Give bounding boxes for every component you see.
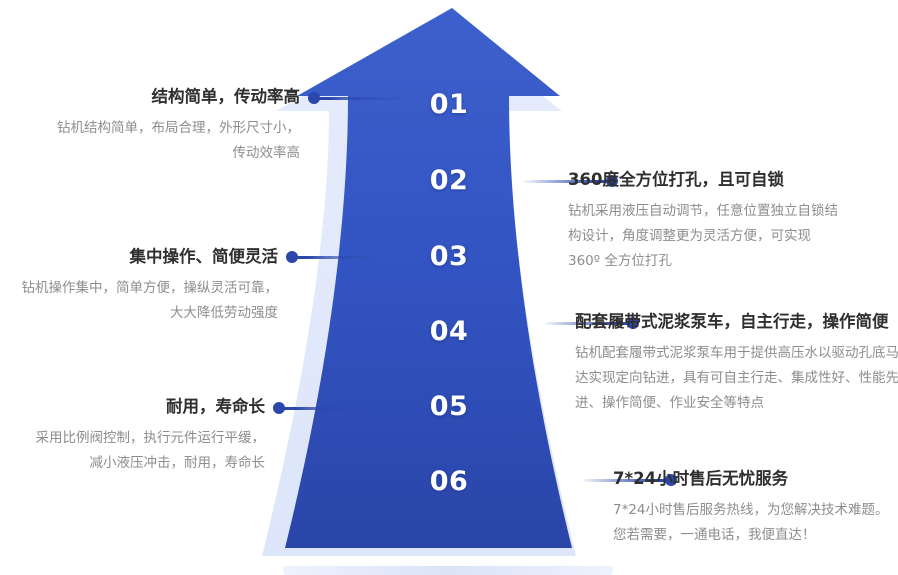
step-desc-05: 采用比例阀控制，执行元件运行平缓， 减小液压冲击，耐用，寿命长 <box>0 426 265 476</box>
step-desc-02-line-1: 钻机采用液压自动调节，任意位置独立自锁结 <box>568 199 898 224</box>
step-item-02: 360度全方位打孔，且可自锁 钻机采用液压自动调节，任意位置独立自锁结 构设计，… <box>568 169 898 274</box>
step-desc-06: 7*24小时售后服务热线，为您解决技术难题。 您若需要，一通电话，我便直达！ <box>613 498 898 548</box>
step-number-06: 06 <box>404 468 494 495</box>
step-desc-03: 钻机操作集中，简单方便，操纵灵活可靠， 大大降低劳动强度 <box>0 276 278 326</box>
step-desc-03-line-2: 大大降低劳动强度 <box>0 301 278 326</box>
infographic-canvas: 01 02 03 04 05 06 结构简单，传动率高 钻机结构简单，布局合理，… <box>0 0 898 575</box>
step-desc-01: 钻机结构简单，布局合理，外形尺寸小， 传动效率高 <box>0 116 300 166</box>
step-desc-01-line-2: 传动效率高 <box>0 141 300 166</box>
step-number-01: 01 <box>404 91 494 118</box>
step-item-03: 集中操作、简便灵活 钻机操作集中，简单方便，操纵灵活可靠， 大大降低劳动强度 <box>0 246 278 326</box>
connector-step-05 <box>275 402 367 414</box>
step-title-04: 配套履带式泥浆泵车，自主行走，操作简便 <box>575 311 898 332</box>
step-item-05: 耐用，寿命长 采用比例阀控制，执行元件运行平缓， 减小液压冲击，耐用，寿命长 <box>0 396 265 476</box>
step-number-03: 03 <box>404 243 494 270</box>
step-item-06: 7*24小时售后无忧服务 7*24小时售后服务热线，为您解决技术难题。 您若需要… <box>613 468 898 548</box>
step-desc-03-line-1: 钻机操作集中，简单方便，操纵灵活可靠， <box>0 276 278 301</box>
step-desc-04: 钻机配套履带式泥浆泵车用于提供高压水以驱动孔底马 达实现定向钻进，具有可自主行走… <box>575 341 898 416</box>
step-title-03: 集中操作、简便灵活 <box>0 246 278 267</box>
connector-line-03 <box>288 256 380 259</box>
arrow-body <box>285 8 572 548</box>
step-desc-06-line-2: 您若需要，一通电话，我便直达！ <box>613 523 898 548</box>
step-number-05: 05 <box>404 393 494 420</box>
step-desc-02-line-3: 360º 全方位打孔 <box>568 249 898 274</box>
step-desc-02-line-2: 构设计，角度调整更为灵活方便，可实现 <box>568 224 898 249</box>
connector-step-03 <box>288 251 380 263</box>
connector-dot-05 <box>273 402 285 414</box>
step-title-02: 360度全方位打孔，且可自锁 <box>568 169 898 190</box>
step-desc-05-line-1: 采用比例阀控制，执行元件运行平缓， <box>0 426 265 451</box>
step-desc-01-line-1: 钻机结构简单，布局合理，外形尺寸小， <box>0 116 300 141</box>
connector-dot-03 <box>286 251 298 263</box>
connector-dot-01 <box>308 92 320 104</box>
step-desc-04-line-2: 达实现定向钻进，具有可自主行走、集成性好、性能先 <box>575 366 898 391</box>
step-desc-06-line-1: 7*24小时售后服务热线，为您解决技术难题。 <box>613 498 898 523</box>
step-number-02: 02 <box>404 167 494 194</box>
step-number-04: 04 <box>404 318 494 345</box>
step-desc-05-line-2: 减小液压冲击，耐用，寿命长 <box>0 451 265 476</box>
step-desc-04-line-1: 钻机配套履带式泥浆泵车用于提供高压水以驱动孔底马 <box>575 341 898 366</box>
step-title-01: 结构简单，传动率高 <box>0 86 300 107</box>
step-item-01: 结构简单，传动率高 钻机结构简单，布局合理，外形尺寸小， 传动效率高 <box>0 86 300 166</box>
step-desc-04-line-3: 进、操作简便、作业安全等特点 <box>575 391 898 416</box>
step-item-04: 配套履带式泥浆泵车，自主行走，操作简便 钻机配套履带式泥浆泵车用于提供高压水以驱… <box>575 311 898 416</box>
step-title-06: 7*24小时售后无忧服务 <box>613 468 898 489</box>
step-desc-02: 钻机采用液压自动调节，任意位置独立自锁结 构设计，角度调整更为灵活方便，可实现 … <box>568 199 898 274</box>
arrow-base-bar <box>283 566 613 575</box>
connector-step-01 <box>310 92 402 104</box>
connector-line-05 <box>275 407 367 410</box>
connector-line-01 <box>310 97 402 100</box>
step-title-05: 耐用，寿命长 <box>0 396 265 417</box>
